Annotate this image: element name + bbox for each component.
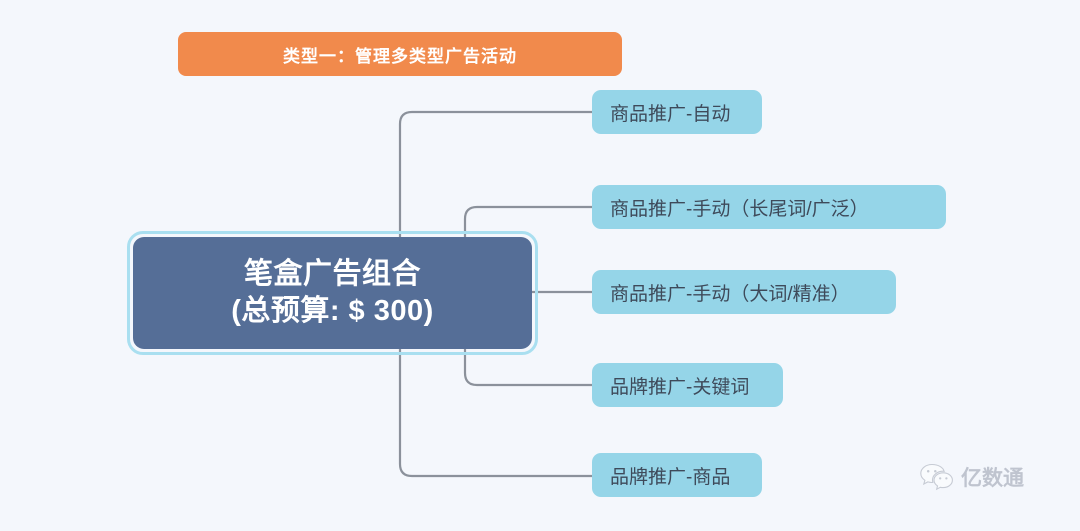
wechat-icon [920,463,954,491]
branch-node-3[interactable]: 商品推广-手动（大词/精准） [592,270,896,314]
root-node[interactable]: 笔盒广告组合 (总预算: $ 300) [133,237,532,349]
branch-node-4[interactable]: 品牌推广-关键词 [592,363,783,407]
branch-node-5[interactable]: 品牌推广-商品 [592,453,762,497]
branch-node-2-label: 商品推广-手动（长尾词/广泛） [610,194,869,221]
branch-node-5-label: 品牌推广-商品 [610,462,730,489]
root-node-title: 笔盒广告组合 [244,256,421,293]
diagram-canvas: 类型一：管理多类型广告活动 笔盒广告组合 (总预算: $ 300) 商品推广-自… [0,0,1080,531]
branch-node-4-label: 品牌推广-关键词 [610,372,749,399]
header-banner: 类型一：管理多类型广告活动 [178,32,622,76]
branch-node-2[interactable]: 商品推广-手动（长尾词/广泛） [592,185,946,229]
root-node-budget: (总预算: $ 300) [231,293,434,330]
watermark: 亿数通 [920,462,1024,492]
header-banner-label: 类型一：管理多类型广告活动 [283,42,517,67]
branch-node-1-label: 商品推广-自动 [610,99,730,126]
watermark-label: 亿数通 [961,462,1024,492]
branch-node-1[interactable]: 商品推广-自动 [592,90,762,134]
branch-node-3-label: 商品推广-手动（大词/精准） [610,279,850,306]
